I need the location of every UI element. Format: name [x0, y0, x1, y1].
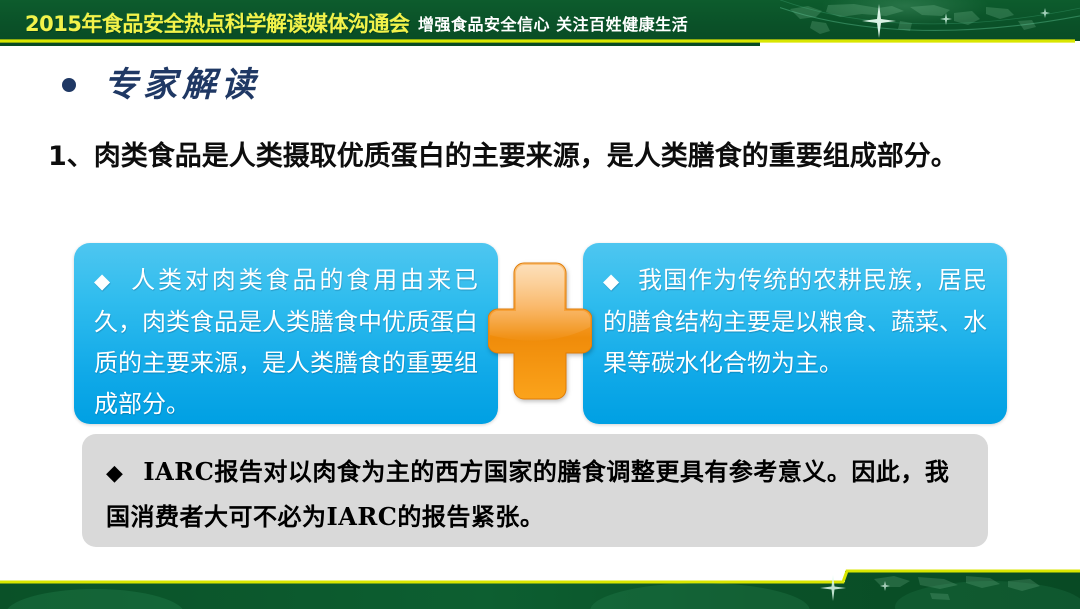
info-card-right-text: ◆我国作为传统的农耕民族，居民的膳食结构主要是以粮食、蔬菜、水果等碳水化合物为主… [603, 260, 987, 384]
info-card-right: ◆我国作为传统的农耕民族，居民的膳食结构主要是以粮食、蔬菜、水果等碳水化合物为主… [583, 243, 1007, 424]
slide-canvas: 2015年食品安全热点科学解读媒体沟通会 增强食品安全信心 关注百姓健康生活 专… [0, 0, 1080, 609]
banner-title: 2015年食品安全热点科学解读媒体沟通会 [25, 14, 409, 35]
info-card-bottom-text: ◆IARC报告对以肉食为主的西方国家的膳食调整更具有参考意义。因此，我国消费者大… [106, 450, 962, 539]
banner-subtitle: 增强食品安全信心 关注百姓健康生活 [418, 17, 688, 33]
info-card-bottom-body: IARC报告对以肉食为主的西方国家的膳食调整更具有参考意义。因此，我国消费者大可… [106, 457, 949, 531]
diamond-bullet-icon: ◆ [94, 269, 113, 293]
info-card-bottom: ◆IARC报告对以肉食为主的西方国家的膳食调整更具有参考意义。因此，我国消费者大… [82, 434, 988, 547]
lead-paragraph: 1、肉类食品是人类摄取优质蛋白的主要来源，是人类膳食的重要组成部分。 [48, 136, 1048, 178]
section-heading: 专家解读 [62, 68, 260, 102]
world-map-decoration-icon [870, 573, 1060, 601]
info-card-left-text: ◆人类对肉类食品的食用由来已久，肉类食品是人类膳食中优质蛋白质的主要来源，是人类… [94, 260, 478, 425]
bullet-dot-icon [62, 78, 76, 92]
section-heading-label: 专家解读 [104, 68, 260, 102]
info-card-left: ◆人类对肉类食品的食用由来已久，肉类食品是人类膳食中优质蛋白质的主要来源，是人类… [74, 243, 498, 424]
sparkle-icon [820, 575, 846, 601]
top-banner: 2015年食品安全热点科学解读媒体沟通会 增强食品安全信心 关注百姓健康生活 [0, 0, 1080, 46]
bottom-banner [0, 549, 1080, 609]
orange-plus-icon [488, 257, 592, 405]
sparkle-icon [880, 581, 890, 591]
info-card-right-body: 我国作为传统的农耕民族，居民的膳食结构主要是以粮食、蔬菜、水果等碳水化合物为主。 [603, 266, 987, 377]
diamond-bullet-icon: ◆ [603, 269, 620, 293]
info-card-left-body: 人类对肉类食品的食用由来已久，肉类食品是人类膳食中优质蛋白质的主要来源，是人类膳… [94, 266, 478, 418]
diamond-bullet-icon: ◆ [106, 460, 123, 486]
